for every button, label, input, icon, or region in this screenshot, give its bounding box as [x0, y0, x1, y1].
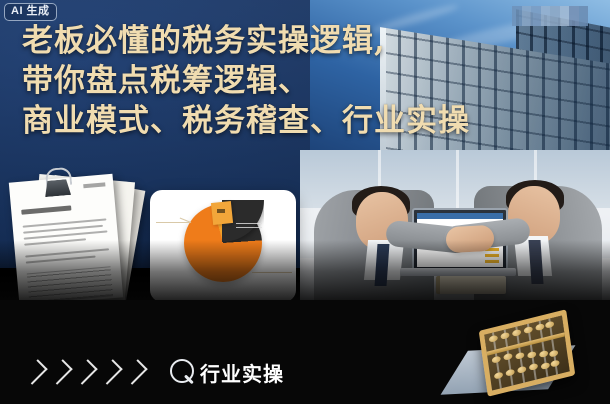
mosaic-tile — [550, 6, 560, 16]
handshake-photo — [300, 150, 610, 306]
mosaic-tile — [522, 16, 532, 26]
chevron-right-icon — [122, 359, 147, 384]
notebook — [436, 276, 506, 294]
window-mullion — [456, 150, 459, 208]
title-line-1: 老板必懂的税务实操逻辑, — [22, 26, 582, 57]
mosaic-tile — [560, 6, 570, 16]
mosaic-tile — [560, 16, 570, 26]
mosaic-tile — [512, 6, 522, 16]
document-title-line — [21, 205, 71, 214]
mosaic-tile — [522, 6, 532, 16]
document-text-line — [26, 255, 96, 263]
pie-slice-gold-label — [217, 209, 225, 213]
pie-slice-gold — [211, 201, 233, 225]
document-text-line — [24, 238, 86, 245]
pie-chart-card — [150, 190, 296, 302]
document-table — [27, 266, 113, 303]
title-line-3: 商业模式、税务稽查、行业实操 — [22, 106, 582, 137]
pie-slice-dark-label — [236, 220, 262, 228]
document-header-stamp — [83, 182, 105, 188]
mosaic-tile — [569, 16, 579, 26]
page-title: 老板必懂的税务实操逻辑, 带你盘点税筹逻辑、 商业模式、税务稽查、行业实操 — [22, 26, 582, 137]
document-text-line — [25, 248, 109, 257]
bottom-bar: 行业实操 — [0, 340, 610, 404]
poster-root: 老板必懂的税务实操逻辑, 带你盘点税筹逻辑、 商业模式、税务稽查、行业实操 AI… — [0, 0, 610, 404]
title-line-2: 带你盘点税筹逻辑、 — [22, 66, 582, 97]
chevron-arrow-group — [28, 361, 142, 383]
mosaic-watermark — [512, 6, 588, 26]
handshake-hands — [445, 225, 494, 253]
search-tag-group[interactable]: 行业实操 — [170, 358, 284, 387]
mosaic-tile — [579, 6, 589, 16]
mosaic-tile — [541, 16, 551, 26]
mosaic-tile — [541, 6, 551, 16]
mosaic-tile — [531, 16, 541, 26]
chevron-right-icon — [22, 359, 47, 384]
mosaic-tile — [579, 16, 589, 26]
chevron-right-icon — [72, 359, 97, 384]
mosaic-tile — [550, 16, 560, 26]
chevron-right-icon — [47, 359, 72, 384]
mosaic-tile — [531, 6, 541, 16]
pie-leader-line-left — [156, 222, 190, 223]
search-icon[interactable] — [170, 359, 196, 385]
binder-clip-icon — [39, 169, 75, 198]
mosaic-tile — [512, 16, 522, 26]
mosaic-tile — [569, 6, 579, 16]
pie-leader-line-right — [252, 272, 292, 273]
ai-generated-badge: AI 生成 — [4, 3, 57, 21]
documents-photo — [6, 168, 142, 308]
chevron-right-icon — [97, 359, 122, 384]
laptop-base — [400, 268, 516, 276]
search-label: 行业实操 — [200, 358, 284, 387]
